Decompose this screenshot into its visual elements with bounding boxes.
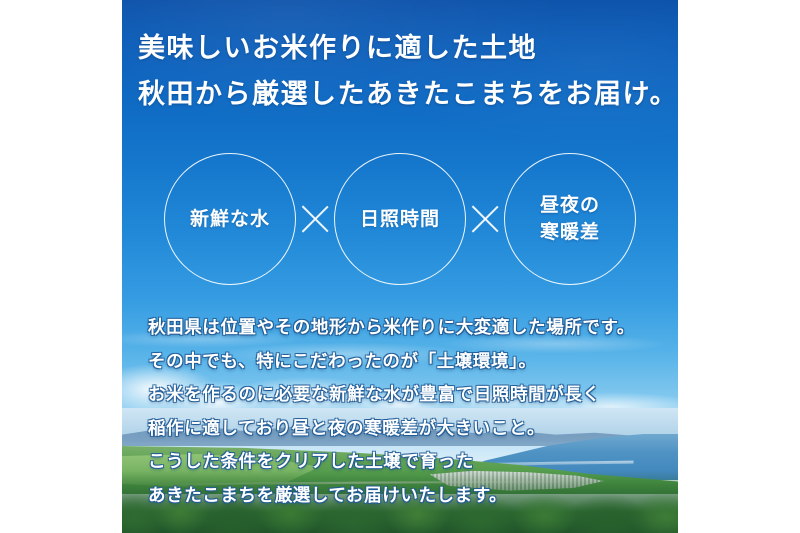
headline-block: 美味しいお米作りに適した土地 秋田から厳選したあきたこまちをお届け。 bbox=[138, 26, 672, 118]
headline-line-1: 美味しいお米作りに適した土地 bbox=[138, 26, 672, 72]
page-root: 美味しいお米作りに適した土地 秋田から厳選したあきたこまちをお届け。 新鮮な水 … bbox=[0, 0, 800, 533]
multiply-icon bbox=[294, 198, 336, 240]
feature-circle-row: 新鮮な水 日照時間 昼夜の 寒暖差 bbox=[122, 148, 678, 290]
body-line: お米を作るのに必要な新鮮な水が豊富で日照時間が長く bbox=[148, 379, 670, 413]
promo-banner: 美味しいお米作りに適した土地 秋田から厳選したあきたこまちをお届け。 新鮮な水 … bbox=[122, 0, 678, 533]
body-line: 秋田県は位置やその地形から米作りに大変適した場所です。 bbox=[148, 312, 670, 346]
feature-circle-fresh-water: 新鮮な水 bbox=[164, 153, 296, 285]
multiply-icon bbox=[464, 198, 506, 240]
headline-line-2: 秋田から厳選したあきたこまちをお届け。 bbox=[138, 72, 672, 118]
body-line: 稲作に適しており昼と夜の寒暖差が大きいこと。 bbox=[148, 413, 670, 447]
feature-circle-label: 日照時間 bbox=[360, 206, 440, 233]
body-copy-block: 秋田県は位置やその地形から米作りに大変適した場所です。 その中でも、特にこだわっ… bbox=[148, 312, 670, 513]
body-line: こうした条件をクリアした土壌で育った bbox=[148, 446, 670, 480]
feature-circle-temperature-range: 昼夜の 寒暖差 bbox=[504, 153, 636, 285]
feature-circle-sunshine-hours: 日照時間 bbox=[334, 153, 466, 285]
feature-circle-label: 昼夜の 寒暖差 bbox=[540, 192, 600, 246]
feature-circle-label: 新鮮な水 bbox=[190, 206, 270, 233]
body-line: あきたこまちを厳選してお届けいたします。 bbox=[148, 480, 670, 514]
body-line: その中でも、特にこだわったのが「土壌環境」。 bbox=[148, 346, 670, 380]
